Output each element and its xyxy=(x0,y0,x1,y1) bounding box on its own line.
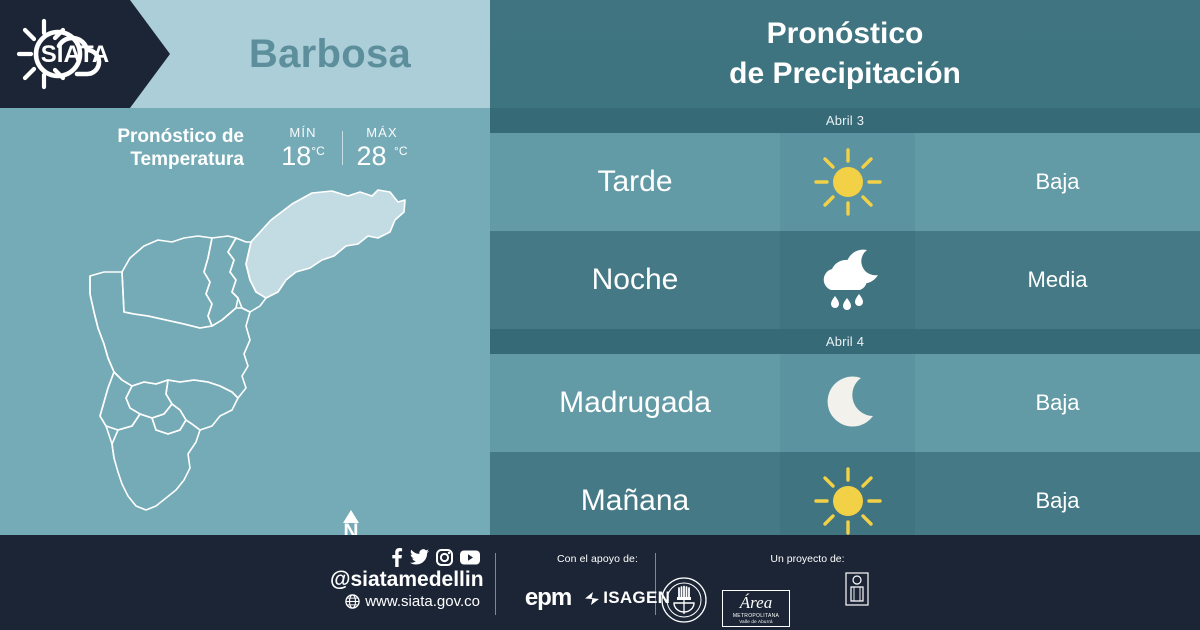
udem-seal-icon xyxy=(660,576,708,624)
sun-cloud-icon: SIATA xyxy=(14,16,144,92)
footer-divider-1 xyxy=(495,553,496,615)
temperature-title-line1: Pronóstico de xyxy=(69,125,244,148)
globe-icon xyxy=(345,594,360,609)
probability-label: Media xyxy=(915,231,1200,329)
max-unit: °C xyxy=(394,144,407,158)
logo-wordmark: SIATA xyxy=(41,41,109,68)
min-unit: °C xyxy=(311,144,324,158)
area-script: Área xyxy=(724,594,788,611)
temperature-title-line2: Temperatura xyxy=(69,148,244,171)
website-url: www.siata.gov.co xyxy=(365,593,480,610)
right-panel: Pronóstico de Precipitación Abril 3 Tard… xyxy=(490,0,1200,535)
isagen-mark-icon xyxy=(583,591,600,606)
area-line1: METROPOLITANA xyxy=(724,613,788,619)
social-icons xyxy=(330,547,480,567)
min-value-wrap: 18°C xyxy=(264,141,342,172)
moon-icon xyxy=(817,372,879,434)
temperature-min: MÍN 18°C xyxy=(264,125,342,172)
max-label: MÁX xyxy=(343,125,421,140)
forecast-row[interactable]: Madrugada Baja xyxy=(490,354,1200,452)
facebook-icon[interactable] xyxy=(391,548,403,567)
project-logos: Área METROPOLITANA Valle de Aburrá Alcal… xyxy=(660,571,960,630)
area-line2: Valle de Aburrá xyxy=(724,619,788,624)
min-value: 18 xyxy=(281,141,311,171)
map-region-la-estrella xyxy=(100,372,140,430)
twitter-icon[interactable] xyxy=(410,549,429,565)
moon-rain-cloud-icon xyxy=(811,244,885,316)
area-metropolitana-logo: Área METROPOLITANA Valle de Aburrá xyxy=(722,590,790,627)
support-caption: Con el apoyo de: xyxy=(510,553,685,565)
max-value-wrap: 28 °C xyxy=(343,141,421,172)
max-value: 28 xyxy=(356,141,386,171)
forecast-rows-area: Abril 3 Tarde xyxy=(490,108,1200,550)
footer-divider-2 xyxy=(655,553,656,615)
period-label: Tarde xyxy=(490,133,780,231)
sun-icon xyxy=(812,465,884,537)
epm-logo: epm xyxy=(525,584,571,612)
date-band-day2: Abril 4 xyxy=(490,329,1200,354)
weather-icon-cell xyxy=(780,231,915,329)
support-block: Con el apoyo de: epm ISAGEN xyxy=(510,553,685,612)
isagen-logo: ISAGEN xyxy=(583,588,670,608)
map-svg xyxy=(60,180,440,535)
instagram-icon[interactable] xyxy=(436,549,453,566)
website-row[interactable]: www.siata.gov.co xyxy=(330,593,480,610)
temperature-block: Pronóstico de Temperatura MÍN 18°C MÁX 2… xyxy=(0,112,490,184)
forecast-row[interactable]: Tarde xyxy=(490,133,1200,231)
map-outer-border xyxy=(90,276,114,458)
alcaldia-logo: Alcaldía de Medellín xyxy=(804,571,909,630)
period-label: Madrugada xyxy=(490,354,780,452)
project-caption: Un proyecto de: xyxy=(715,553,900,565)
map-region-caldas xyxy=(112,414,200,510)
page-title: Barbosa xyxy=(170,0,490,108)
weather-icon-cell xyxy=(780,133,915,231)
map-region-barbosa xyxy=(246,190,405,298)
social-block: @siatamedellin www.siata.gov.co xyxy=(330,547,480,610)
footer: @siatamedellin www.siata.gov.co Con el a… xyxy=(0,535,1200,630)
sun-icon xyxy=(812,146,884,218)
weather-icon-cell xyxy=(780,354,915,452)
period-label: Noche xyxy=(490,231,780,329)
forecast-title-line1: Pronóstico xyxy=(767,14,924,54)
min-label: MÍN xyxy=(264,125,342,140)
forecast-title-line2: de Precipitación xyxy=(729,54,961,94)
temperature-title: Pronóstico de Temperatura xyxy=(69,125,244,171)
left-panel: SIATA Barbosa Pronóstico de Temperatura … xyxy=(0,0,490,535)
youtube-icon[interactable] xyxy=(460,550,480,565)
temperature-max: MÁX 28 °C xyxy=(343,125,421,172)
project-block: Un proyecto de: Área METROPOLITANA Valle… xyxy=(660,553,960,630)
support-logos: epm ISAGEN xyxy=(510,584,685,612)
probability-label: Baja xyxy=(915,354,1200,452)
social-handle[interactable]: @siatamedellin xyxy=(330,568,480,592)
forecast-header: Pronóstico de Precipitación xyxy=(490,0,1200,108)
alcaldia-crest-icon xyxy=(842,571,872,613)
infographic-root: SIATA Barbosa Pronóstico de Temperatura … xyxy=(0,0,1200,630)
date-band-day1: Abril 3 xyxy=(490,108,1200,133)
temperature-values: MÍN 18°C MÁX 28 °C xyxy=(264,125,421,172)
forecast-row[interactable]: Noche Media xyxy=(490,231,1200,329)
map-region-envigado xyxy=(166,380,238,430)
probability-label: Baja xyxy=(915,133,1200,231)
map-region-medellin xyxy=(90,272,250,398)
aburra-valley-map: N xyxy=(60,180,440,535)
